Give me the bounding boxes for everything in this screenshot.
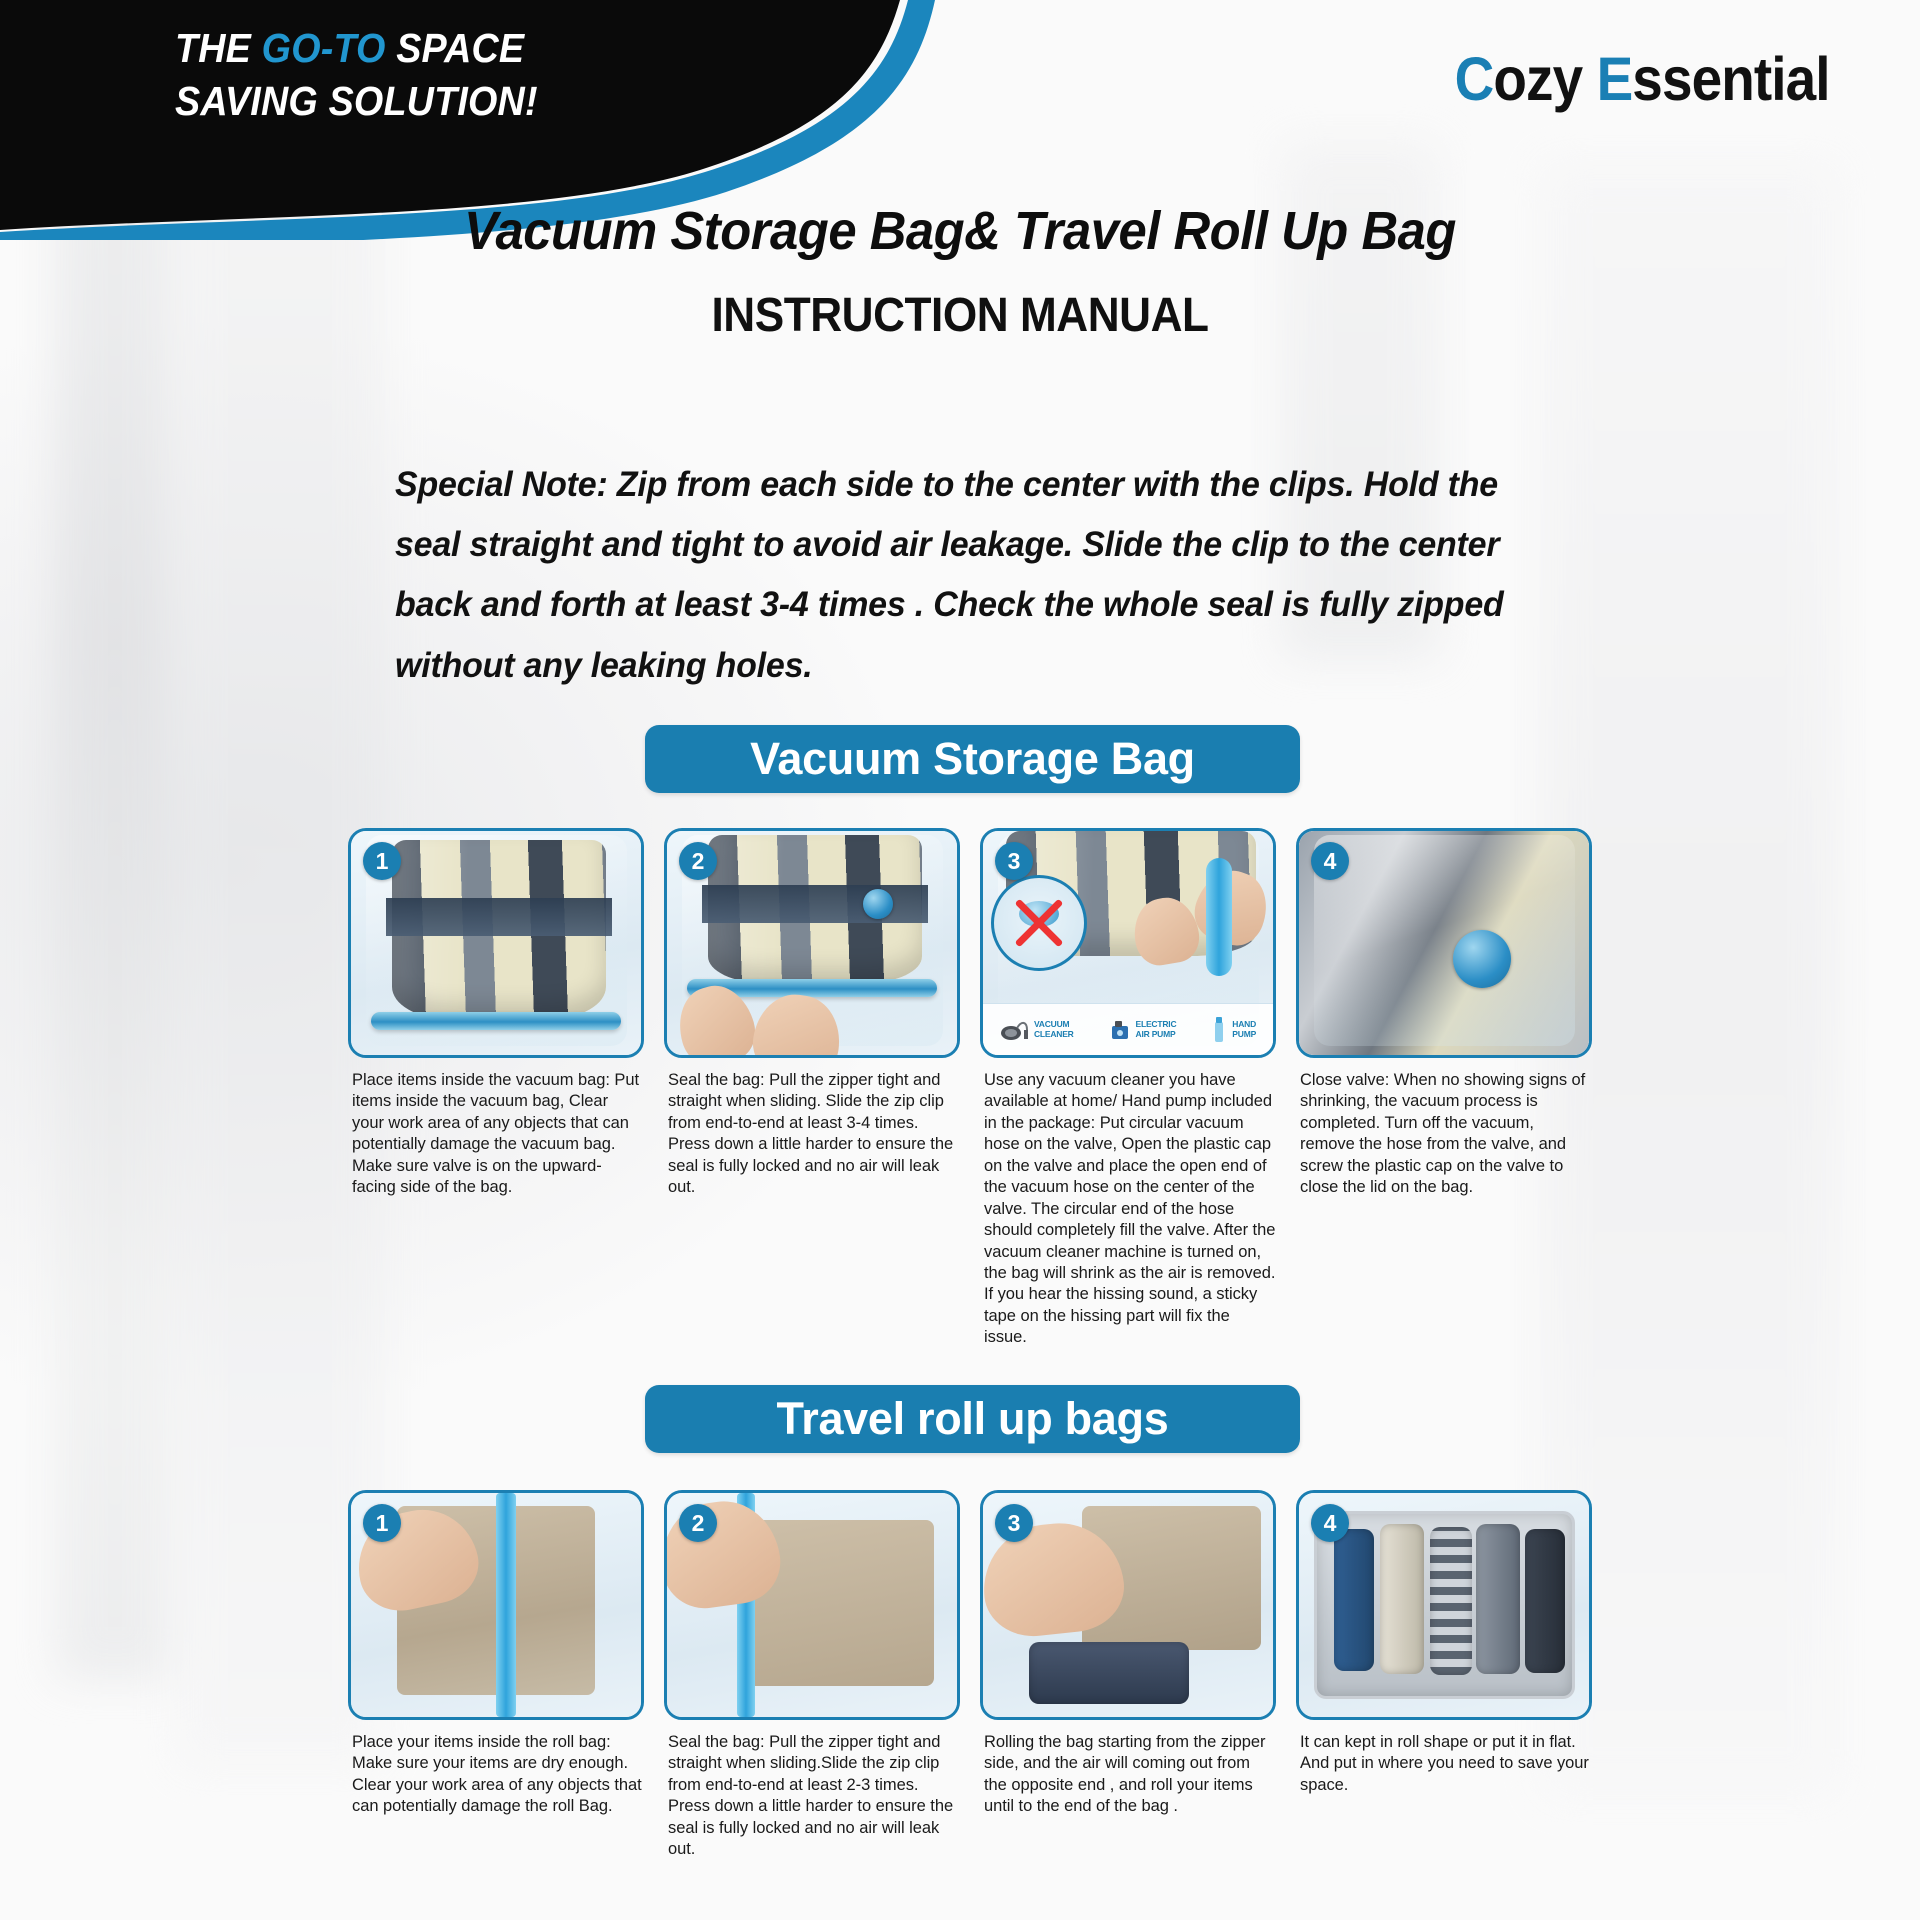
step-card-travel-3: 3 — [980, 1490, 1276, 1720]
step-caption: Seal the bag: Pull the zipper tight and … — [668, 1070, 960, 1199]
step-card-vacuum-4: 4 — [1296, 828, 1592, 1058]
page-title: Vacuum Storage Bag& Travel Roll Up Bag — [58, 200, 1863, 262]
step-captions-vacuum: Place items inside the vacuum bag: Put i… — [348, 1070, 1618, 1310]
step-badge: 1 — [363, 1504, 401, 1542]
header-tagline: THE GO-TO SPACE SAVING SOLUTION! — [175, 22, 819, 129]
legend-label-vacuum-cleaner: VACUUM CLEANER — [1034, 1020, 1074, 1039]
step-badge: 1 — [363, 842, 401, 880]
step-card-vacuum-3: VACUUM CLEANER ELECTRIC — [980, 828, 1276, 1058]
instruction-manual-page: THE GO-TO SPACE SAVING SOLUTION! Cozy Es… — [0, 0, 1920, 1920]
legend-label-electric-air-pump: ELECTRIC AIR PUMP — [1136, 1020, 1177, 1039]
tagline-go-to: GO-TO — [262, 25, 386, 71]
section-banner-vacuum: Vacuum Storage Bag — [645, 725, 1300, 793]
tagline-line-2: SAVING SOLUTION! — [175, 75, 819, 128]
hand-pump-icon — [1210, 1017, 1228, 1043]
section-steps-vacuum: 1 2 — [348, 828, 1618, 1310]
tagline-space: SPACE — [386, 25, 525, 71]
tagline-the: THE — [175, 25, 262, 71]
vacuum-cleaner-icon — [1000, 1018, 1030, 1042]
step-card-travel-2: 2 — [664, 1490, 960, 1720]
pump-legend: VACUUM CLEANER ELECTRIC — [983, 1003, 1273, 1055]
legend-label-hand-pump: HAND PUMP — [1232, 1020, 1256, 1039]
legend-item-vacuum-cleaner: VACUUM CLEANER — [1000, 1018, 1074, 1042]
section-steps-travel: 1 2 3 — [348, 1490, 1618, 1920]
step-card-travel-4: 4 — [1296, 1490, 1592, 1720]
section-banner-travel: Travel roll up bags — [645, 1385, 1300, 1453]
step-caption: Place your items inside the roll bag: Ma… — [352, 1732, 644, 1818]
step-card-travel-1: 1 — [348, 1490, 644, 1720]
brand-letter-e: E — [1597, 45, 1633, 113]
step-card-vacuum-1: 1 — [348, 828, 644, 1058]
brand-letter-c: C — [1455, 45, 1494, 113]
step-badge: 4 — [1311, 842, 1349, 880]
brand-logo: Cozy Essential — [1455, 44, 1830, 114]
step-badge: 4 — [1311, 1504, 1349, 1542]
step-card-vacuum-2: 2 — [664, 828, 960, 1058]
legend-item-electric-air-pump: ELECTRIC AIR PUMP — [1108, 1018, 1177, 1042]
step-caption: Rolling the bag starting from the zipper… — [984, 1732, 1276, 1818]
brand-ssential: ssential — [1633, 45, 1830, 113]
step-caption: Place items inside the vacuum bag: Put i… — [352, 1070, 644, 1199]
page-subtitle: INSTRUCTION MANUAL — [77, 288, 1843, 343]
electric-air-pump-icon — [1108, 1018, 1132, 1042]
step-badge: 2 — [679, 842, 717, 880]
step-caption: It can kept in roll shape or put it in f… — [1300, 1732, 1592, 1796]
background-blur-left — [55, 180, 175, 1680]
step-caption: Seal the bag: Pull the zipper tight and … — [668, 1732, 960, 1861]
step-badge: 2 — [679, 1504, 717, 1542]
brand-ozy: ozy — [1494, 45, 1597, 113]
step-badge: 3 — [995, 842, 1033, 880]
step-badge: 3 — [995, 1504, 1033, 1542]
no-entry-valve-icon — [991, 875, 1087, 971]
special-note: Special Note: Zip from each side to the … — [395, 455, 1540, 696]
step-caption: Use any vacuum cleaner you have availabl… — [984, 1070, 1276, 1349]
tagline-line-1: THE GO-TO SPACE — [175, 22, 819, 75]
step-caption: Close valve: When no showing signs of sh… — [1300, 1070, 1592, 1199]
step-captions-travel: Place your items inside the roll bag: Ma… — [348, 1732, 1618, 1920]
legend-item-hand-pump: HAND PUMP — [1210, 1017, 1256, 1043]
